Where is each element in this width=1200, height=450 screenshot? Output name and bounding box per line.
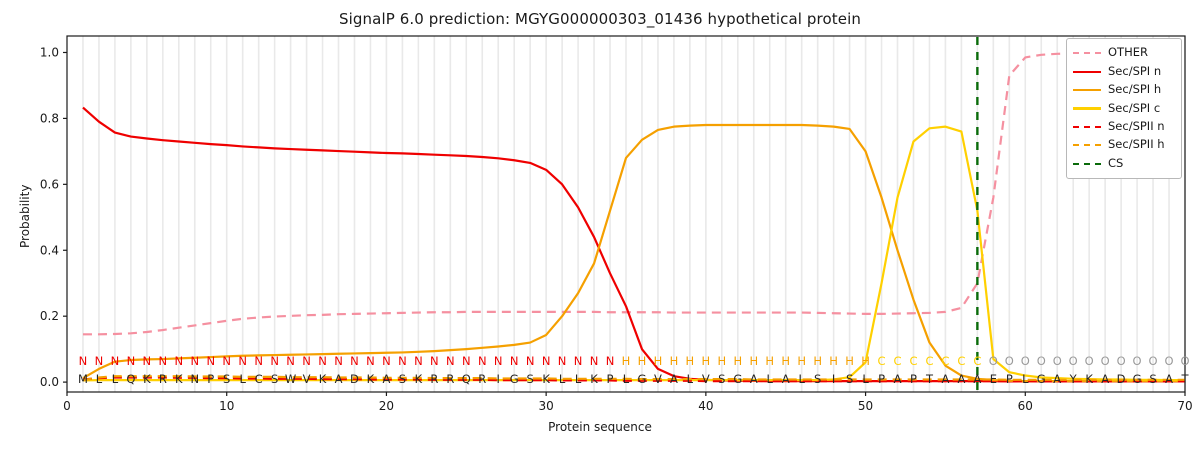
sequence-char: L [575,372,582,386]
region-label-char: N [398,354,407,368]
region-label-char: N [190,354,199,368]
data-series-group [83,37,1185,391]
sequence-char: A [382,372,390,386]
sequence-char: E [990,372,997,386]
sequence-char: G [1037,372,1046,386]
region-label-char: H [781,354,790,368]
region-label-char: C [973,354,981,368]
series-line-sec-spi-h [83,125,1185,381]
sequence-char: C [255,372,263,386]
region-label-char: C [909,354,917,368]
x-tick-label: 70 [1177,399,1192,413]
region-label-char: H [749,354,758,368]
x-tick-label: 60 [1018,399,1033,413]
region-label-char: O [1069,354,1078,368]
y-tick-label: 0.8 [40,111,59,125]
region-label-char: C [893,354,901,368]
sequence-char: Y [1069,372,1078,386]
region-label-char: H [829,354,838,368]
region-label-char: N [206,354,215,368]
region-label-char: N [526,354,535,368]
sequence-char: K [175,372,183,386]
x-tick-label: 0 [63,399,71,413]
sequence-char: R [478,372,486,386]
sequence-char: A [670,372,678,386]
x-tick-label: 30 [539,399,554,413]
sequence-char: A [941,372,949,386]
legend-label: Sec/SPII n [1108,121,1165,133]
region-label-char: O [1053,354,1062,368]
sequence-char: N [190,372,199,386]
region-label-char: O [1005,354,1014,368]
sequence-char: W [285,372,296,386]
sequence-char: P [607,372,614,386]
region-label-char: N [430,354,439,368]
sequence-char: K [319,372,327,386]
region-label-char: N [111,354,120,368]
region-label-char: N [318,354,327,368]
sequence-char: R [446,372,454,386]
legend-item-other[interactable]: OTHER [1073,44,1175,62]
legend-swatch [1073,48,1101,58]
region-label-char: H [733,354,742,368]
legend-swatch [1073,103,1101,113]
region-label-char: H [718,354,727,368]
region-label-char: N [542,354,551,368]
sequence-char: D [1117,372,1126,386]
legend-label: Sec/SPII h [1108,139,1165,151]
legend-swatch [1073,85,1101,95]
x-tick-label: 10 [219,399,234,413]
region-label-char: H [622,354,631,368]
legend-item-sec-spi-n[interactable]: Sec/SPI n [1073,62,1175,80]
region-label-char: O [1117,354,1126,368]
region-label-char: O [989,354,998,368]
sequence-char: L [862,372,869,386]
sequence-char: I [832,372,835,386]
sequence-char: K [367,372,375,386]
region-label-char: H [861,354,870,368]
sequence-char: K [542,372,550,386]
sequence-char: S [527,372,534,386]
region-label-char: N [494,354,503,368]
sequence-char: A [973,372,981,386]
region-label-char: N [143,354,152,368]
sequence-char: L [623,372,630,386]
region-label-char: O [1133,354,1142,368]
y-tick-label: 0.0 [40,375,59,389]
legend-item-sec-spii-h[interactable]: Sec/SPII h [1073,136,1175,154]
region-label-char: N [462,354,471,368]
region-label-char: N [350,354,359,368]
legend-item-cs[interactable]: CS [1073,154,1175,172]
sequence-char: L [687,372,694,386]
legend-swatch [1073,122,1101,132]
legend-label: Sec/SPI n [1108,66,1161,78]
sequence-char: R [159,372,167,386]
grid-lines [83,36,1185,392]
sequence-char: Q [126,372,135,386]
region-label-char: N [446,354,455,368]
region-label-char: O [1149,354,1158,368]
sequence-char: L [767,372,774,386]
region-label-char: N [95,354,104,368]
sequence-char: Q [462,372,471,386]
sequence-char: S [814,372,821,386]
sequence-char: L [1022,372,1029,386]
legend-swatch [1073,140,1101,150]
region-label-char: N [382,354,391,368]
region-label-char: N [558,354,567,368]
sequence-char: G [638,372,647,386]
region-label-char: N [366,354,375,368]
y-tick-label: 0.4 [40,243,59,257]
sequence-char: G [733,372,742,386]
region-label-char: H [813,354,822,368]
sequence-char: S [399,372,406,386]
sequence-char: K [415,372,423,386]
region-label-char: O [1021,354,1030,368]
y-tick-label: 0.2 [40,309,59,323]
sequence-char: L [96,372,103,386]
region-label-char: N [222,354,231,368]
legend-item-sec-spii-n[interactable]: Sec/SPII n [1073,118,1175,136]
region-label-char: N [478,354,487,368]
sequence-char: V [702,372,710,386]
x-tick-label: 40 [698,399,713,413]
sequence-char: M [78,372,88,386]
region-label-char: C [878,354,886,368]
legend-label: Sec/SPI h [1108,84,1161,96]
plot-canvas: 0102030405060700.00.20.40.60.81.0NNNNNNN… [0,0,1200,450]
region-label-char: N [254,354,263,368]
region-label-char: H [845,354,854,368]
region-label-char: N [159,354,168,368]
region-label-char: H [702,354,711,368]
sequence-char: A [894,372,902,386]
sequence-char: R [430,372,438,386]
region-label-char: H [686,354,695,368]
region-label-char: N [510,354,519,368]
region-label-char: N [574,354,583,368]
sequence-char: A [750,372,758,386]
sequence-char: S [271,372,278,386]
region-label-char: N [414,354,423,368]
region-label-char: H [654,354,663,368]
sequence-char: A [782,372,790,386]
region-label-char: H [797,354,806,368]
y-tick-label: 1.0 [40,45,59,59]
series-line-sec-spi-c [83,127,1185,381]
sequence-char: A [1101,372,1109,386]
sequence-char: L [559,372,566,386]
x-tick-label: 50 [858,399,873,413]
sequence-char: K [590,372,598,386]
sequence-char: T [925,372,934,386]
sequence-char: V [303,372,311,386]
sequence-char: G [510,372,519,386]
region-label-char: H [765,354,774,368]
sequence-char: L [112,372,119,386]
region-label-char: C [925,354,933,368]
sequence-char: P [878,372,885,386]
region-label-char: N [174,354,183,368]
region-label-char: H [670,354,679,368]
x-tick-label: 20 [379,399,394,413]
legend-label: CS [1108,158,1123,170]
series-line-other [83,52,1185,334]
legend-swatch [1073,67,1101,77]
sequence-char: A [335,372,343,386]
region-label-char: O [1164,354,1173,368]
sequence-char: S [223,372,230,386]
region-label-char: N [334,354,343,368]
sequence-char: P [910,372,917,386]
chart-legend: OTHERSec/SPI nSec/SPI hSec/SPI cSec/SPII… [1066,38,1182,179]
sequence-char: L [798,372,805,386]
legend-label: Sec/SPI c [1108,103,1160,115]
legend-item-sec-spi-h[interactable]: Sec/SPI h [1073,81,1175,99]
region-label-char: H [638,354,647,368]
region-label-char: N [270,354,279,368]
sequence-char: A [957,372,965,386]
region-label-char: N [286,354,295,368]
sequence-char: P [1006,372,1013,386]
sequence-char: D [350,372,359,386]
region-label-char: N [590,354,599,368]
sequence-char: G [1133,372,1142,386]
legend-label: OTHER [1108,47,1148,59]
region-label-char: O [1037,354,1046,368]
sequence-char: L [239,372,246,386]
region-label-char: C [957,354,965,368]
sequence-char: P [207,372,214,386]
sequence-char: V [654,372,662,386]
sequence-char: A [1053,372,1061,386]
region-label-char: N [302,354,311,368]
region-label-char: N [79,354,88,368]
sequence-char: K [1085,372,1093,386]
region-label-char: O [1101,354,1110,368]
sequence-char: T [1180,372,1189,386]
sequence-char: I [497,372,500,386]
sequence-char: S [1149,372,1156,386]
region-label-row: NNNNNNNNNNNNNNNNNNNNNNNNNNNNNNNNNNHHHHHH… [79,354,1190,368]
signalp-plot-figure: SignalP 6.0 prediction: MGYG000000303_01… [0,0,1200,450]
sequence-char: K [143,372,151,386]
legend-item-sec-spi-c[interactable]: Sec/SPI c [1073,99,1175,117]
region-label-char: O [1180,354,1189,368]
sequence-char: S [718,372,725,386]
sequence-char: A [1165,372,1173,386]
legend-swatch [1073,159,1101,169]
y-tick-label: 0.6 [40,177,59,191]
region-label-char: O [1085,354,1094,368]
region-label-char: C [941,354,949,368]
sequence-row: MLLQKRKNPSLCSWVKADKASKRRQRIGSKLLKPLGVALV… [78,372,1189,386]
region-label-char: N [238,354,247,368]
region-label-char: N [606,354,615,368]
sequence-char: S [846,372,853,386]
region-label-char: N [127,354,136,368]
